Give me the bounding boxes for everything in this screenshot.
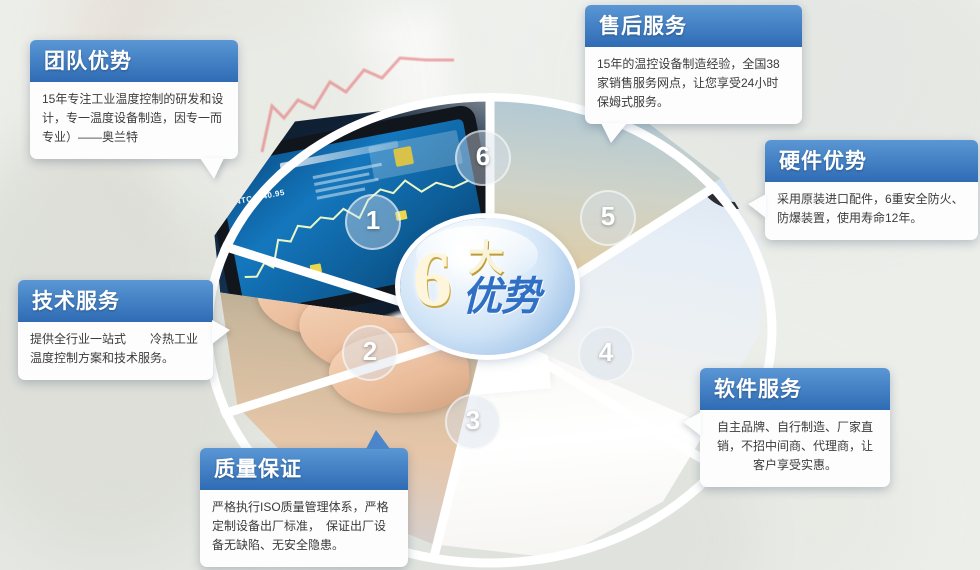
callout-body: 15年的温控设备制造经验，全国38家销售服务网点，让您享受24小时保姆式服务。 — [585, 47, 802, 124]
callout-title: 质量保证 — [200, 448, 408, 490]
callout-title: 硬件优势 — [765, 140, 978, 182]
callout-quality-assurance[interactable]: 质量保证 严格执行ISO质量管理体系，严格定制设备出厂标准， 保证出厂设备无缺陷… — [200, 448, 408, 567]
segment-number-3[interactable]: 3 — [445, 394, 501, 450]
callout-body: 严格执行ISO质量管理体系，严格定制设备出厂标准， 保证出厂设备无缺陷、无安全隐… — [200, 490, 408, 567]
callout-body: 自主品牌、自行制造、厂家直销，不招中间商、代理商，让客户享受实惠。 — [700, 410, 890, 487]
callout-after-sales-service[interactable]: 售后服务 15年的温控设备制造经验，全国38家销售服务网点，让您享受24小时保姆… — [585, 5, 802, 124]
center-word-youshi: 优势 — [462, 276, 540, 318]
callout-body: 15年专注工业温度控制的研发和设计，专一温度设备制造，因专一而专业）——奥兰特 — [30, 82, 238, 159]
callout-body: 采用原装进口配件，6重安全防火、防爆装置，使用寿命12年。 — [765, 182, 978, 240]
callout-title: 团队优势 — [30, 40, 238, 82]
callout-tail — [601, 123, 627, 143]
center-badge: 6 大 优势 — [400, 218, 575, 355]
segment-number-4[interactable]: 4 — [578, 326, 634, 382]
poster-canvas: INTC 440.95 — [0, 0, 980, 570]
center-number-6: 6 — [413, 240, 452, 318]
callout-tail — [683, 412, 701, 436]
callout-title: 软件服务 — [700, 368, 890, 410]
segment-number-6[interactable]: 6 — [455, 130, 511, 186]
callout-team-advantage[interactable]: 团队优势 15年专注工业温度控制的研发和设计，专一温度设备制造，因专一而专业）—… — [30, 40, 238, 159]
callout-body: 提供全行业一站式 冷热工业温度控制方案和技术服务。 — [18, 322, 213, 380]
segment-number-5[interactable]: 5 — [580, 190, 636, 246]
callout-tail — [212, 320, 230, 344]
center-word-da: 大 — [468, 240, 504, 276]
callout-software-service[interactable]: 软件服务 自主品牌、自行制造、厂家直销，不招中间商、代理商，让客户享受实惠。 — [700, 368, 890, 487]
callout-tail — [200, 158, 224, 179]
callout-tail — [748, 194, 766, 218]
callout-title: 技术服务 — [18, 280, 213, 322]
segment-number-1[interactable]: 1 — [345, 194, 401, 250]
segment-number-2[interactable]: 2 — [342, 325, 398, 381]
callout-hardware-advantage[interactable]: 硬件优势 采用原装进口配件，6重安全防火、防爆装置，使用寿命12年。 — [765, 140, 978, 240]
callout-tail — [366, 430, 390, 449]
callout-title: 售后服务 — [585, 5, 802, 47]
callout-technical-service[interactable]: 技术服务 提供全行业一站式 冷热工业温度控制方案和技术服务。 — [18, 280, 213, 380]
